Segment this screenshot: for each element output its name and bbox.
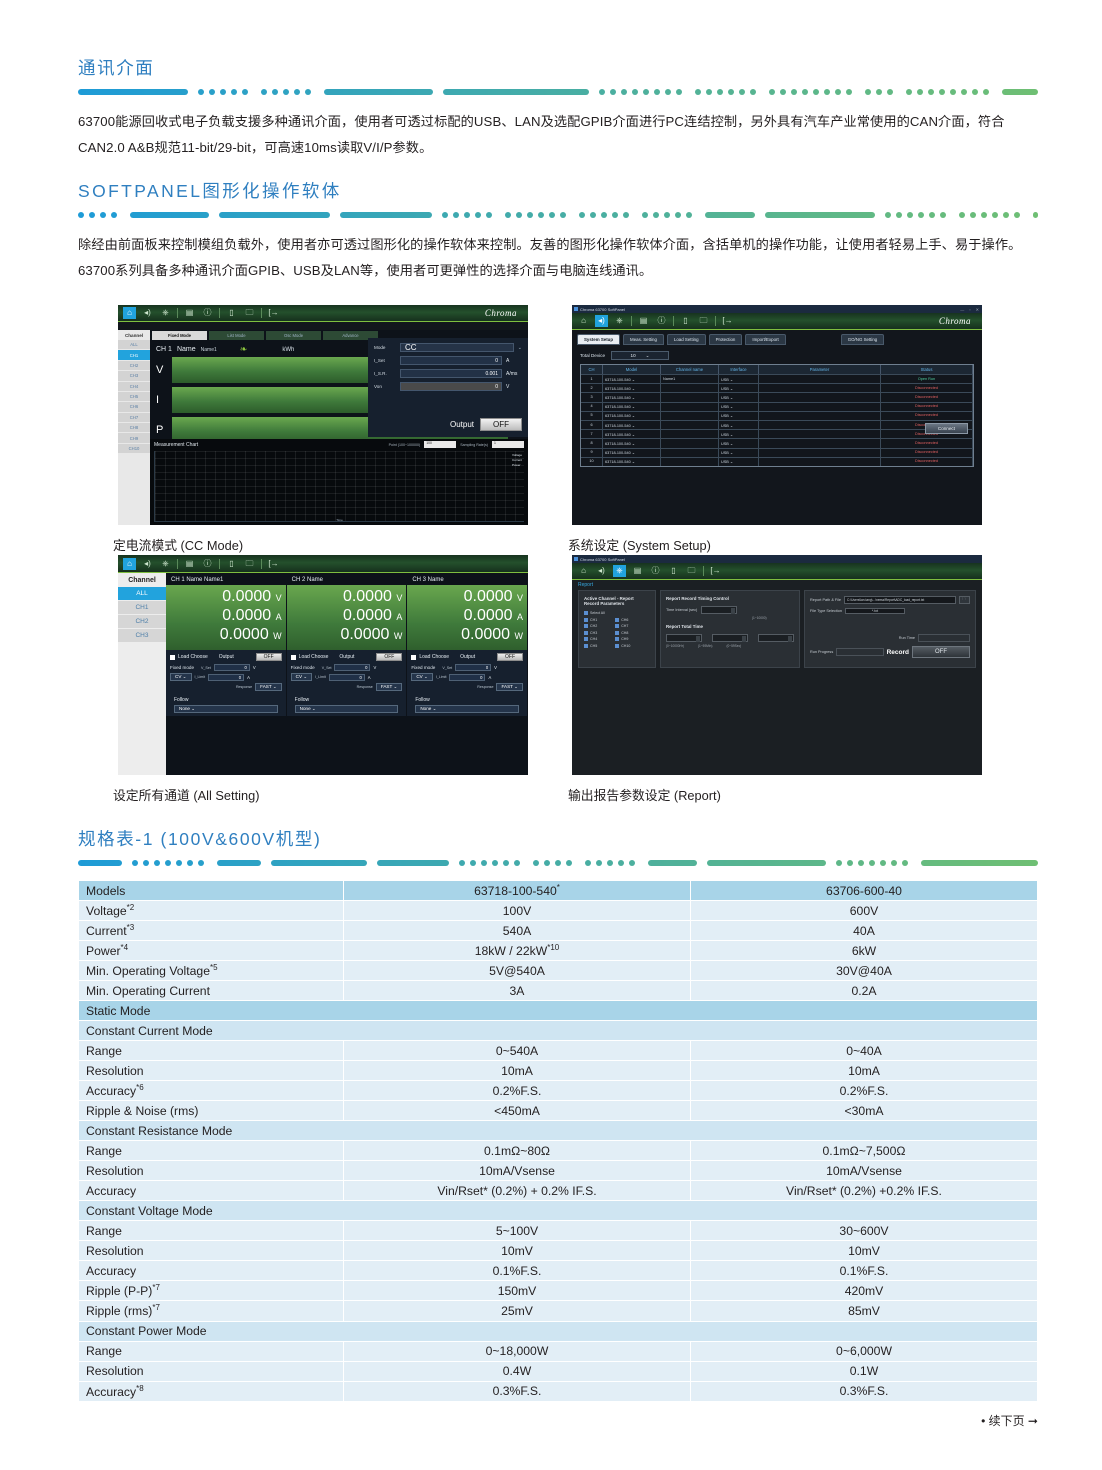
as-channel-title: CH 3 Name <box>407 573 527 585</box>
spec-group-label: Constant Resistance Mode <box>79 1121 1038 1141</box>
rp-channel-label: CH9 <box>621 637 628 641</box>
load-choose-label: Load Choose <box>178 654 208 660</box>
rp-time-interval-label: Time Interval (sec) <box>666 608 697 612</box>
rp-channel-checkbox[interactable]: CH10 <box>615 644 630 648</box>
cc-chart-xlabel: Time <box>336 518 343 522</box>
report-icon[interactable]: ▤ <box>183 558 196 570</box>
cc-sidebar-item-ch7[interactable]: CH7 <box>118 413 150 422</box>
ss-total-device-row: Total Device 10 ⌄ <box>572 345 982 364</box>
rp-time-interval-spinner[interactable] <box>701 606 737 614</box>
spec-value-model-1: 0.3%F.S. <box>344 1381 691 1401</box>
as-response-select[interactable]: FAST ⌄ <box>376 683 403 691</box>
spec-footnote-marker: *2 <box>127 903 135 912</box>
spec-value-model-2: 10mV <box>691 1241 1038 1261</box>
cc-field-isr-input[interactable]: 0.001 <box>400 369 502 378</box>
load-choose-label: Load Choose <box>419 654 449 660</box>
tab-gong-setting[interactable]: GO/NG Setting <box>841 334 885 345</box>
ss-cell-interface[interactable]: USB ⌄ <box>719 384 759 392</box>
rp-total-minutes-spinner[interactable] <box>712 634 748 642</box>
as-response-select[interactable]: FAST ⌄ <box>255 683 282 691</box>
as-vset-input[interactable]: 0 <box>455 664 491 671</box>
ss-cell-name[interactable]: Name1 <box>661 375 719 383</box>
table-row: Accuracy*60.2%F.S.0.2%F.S. <box>79 1081 1038 1101</box>
as-mode-select[interactable]: CV ⌄ <box>170 673 192 681</box>
divider <box>261 559 262 569</box>
cc-chart-rate-label: Sampling Rate(s) <box>460 443 488 447</box>
as-output-toggle[interactable]: OFF <box>497 653 523 661</box>
ss-table-row[interactable]: 1063718-100-540 ⌄USB ⌄Disconnected <box>581 457 973 466</box>
cc-sidebar-item-ch3[interactable]: CH3 <box>118 371 150 380</box>
ss-window-title: Chroma 63700 SoftPanel <box>580 307 625 312</box>
ss-cell-name[interactable] <box>661 449 719 457</box>
minimize-icon[interactable]: — <box>960 307 964 312</box>
spec-value-model-1: 3A <box>344 981 691 1001</box>
ss-cell-interface[interactable]: USB ⌄ <box>719 458 759 466</box>
rp-channel-list-left: CH1CH2CH3CH4CH5 <box>584 618 597 651</box>
spec-value-model-1: 10mA/Vsense <box>344 1161 691 1181</box>
as-channel-title: CH 1 Name Name1 <box>166 573 286 585</box>
ss-cell-parameter[interactable] <box>759 449 881 457</box>
as-ilimit-input[interactable]: 0 <box>329 674 365 681</box>
ss-cell-interface[interactable]: USB ⌄ <box>719 375 759 383</box>
as-ilimit-unit: A <box>368 675 371 680</box>
as-sidebar-item-ch2[interactable]: CH2 <box>118 615 166 628</box>
browse-folder-icon[interactable]: 🗀 <box>959 596 970 604</box>
ss-cell-name[interactable] <box>661 412 719 420</box>
as-vset-input[interactable]: 0 <box>214 664 250 671</box>
tab-system-setup[interactable]: System Setup <box>577 334 620 345</box>
ss-total-device-select[interactable]: 10 ⌄ <box>611 351 669 360</box>
ss-cell-parameter[interactable] <box>759 375 881 383</box>
network-icon[interactable]: ⎈ <box>613 565 626 577</box>
table-row: AccuracyVin/Rset* (0.2%) + 0.2% IF.S.Vin… <box>79 1181 1038 1201</box>
cc-sidebar-item-ch4[interactable]: CH4 <box>118 382 150 391</box>
folder-icon[interactable]: 🗀 <box>243 558 256 570</box>
network-icon[interactable]: ⎈ <box>159 307 172 319</box>
save-icon[interactable]: ▯ <box>667 565 680 577</box>
ss-cell-model[interactable]: 63718-100-540 ⌄ <box>603 403 661 411</box>
spec-footnote-marker: *8 <box>136 1384 144 1393</box>
cc-channel-label: CH 1 <box>156 346 172 353</box>
caption-all-setting: 设定所有通道 (All Setting) <box>113 785 558 804</box>
ss-cell-parameter[interactable] <box>759 412 881 420</box>
info-icon[interactable]: ⓘ <box>201 307 214 319</box>
rp-channel-checkbox[interactable]: CH4 <box>584 637 597 641</box>
spec-footnote-marker: *4 <box>121 943 129 952</box>
as-channel-sidebar: Channel ALL CH1 CH2 CH3 <box>118 573 166 775</box>
load-choose-checkbox[interactable] <box>411 655 416 660</box>
spec-value-model-2: 85mV <box>691 1301 1038 1321</box>
ss-cell-name[interactable] <box>661 439 719 447</box>
legend-power: Power <box>512 463 521 467</box>
home-icon[interactable]: ⌂ <box>123 558 136 570</box>
as-response-select[interactable]: FAST ⌄ <box>496 683 523 691</box>
spec-value-model-1: 540A <box>344 921 691 941</box>
table-row: Range0~540A0~40A <box>79 1041 1038 1061</box>
rp-channel-checkbox[interactable]: CH1 <box>584 618 597 622</box>
folder-icon[interactable]: 🗀 <box>685 565 698 577</box>
info-icon[interactable]: ⓘ <box>649 565 662 577</box>
ss-cell-parameter[interactable] <box>759 421 881 429</box>
as-fixed-mode-label: Fixed mode <box>411 665 435 670</box>
table-row: Range5~100V30~600V <box>79 1221 1038 1241</box>
as-channel-column: CH 1 Name Name10.0000 V0.0000 A0.0000 WL… <box>166 573 287 775</box>
ss-col-status: Status <box>881 365 973 374</box>
section-title-communication: 通讯介面 <box>78 55 1038 80</box>
tab-osc-mode[interactable]: Osc Mode <box>266 331 321 340</box>
ss-cell-model[interactable]: 63718-100-540 ⌄ <box>603 421 661 429</box>
cc-meter-v-label: V <box>156 364 172 376</box>
screenshot-gallery-row-1: ⌂ ◂) ⎈ ▤ ⓘ ▯ 🗀 [→ Chroma <box>78 305 1038 554</box>
ss-cell-status: Disconnected <box>881 412 973 420</box>
as-readout-w: 0.0000 W <box>291 626 403 645</box>
speaker-icon[interactable]: ◂) <box>141 307 154 319</box>
chevron-down-icon[interactable]: ⌄ <box>518 345 522 351</box>
tab-protection[interactable]: Protection <box>709 334 743 345</box>
cc-chart-point-input[interactable]: 100 <box>424 441 456 448</box>
cc-output-toggle[interactable]: OFF <box>480 418 522 431</box>
cc-sidebar-item-ch10[interactable]: CH10 <box>118 444 150 453</box>
spec-value-model-1: 100V <box>344 901 691 921</box>
as-follow-select[interactable]: None ⌄ <box>174 705 278 713</box>
ss-cell-interface[interactable]: USB ⌄ <box>719 430 759 438</box>
spec-footnote-marker: * <box>557 883 560 892</box>
ss-cell-model[interactable]: 63718-100-540 ⌄ <box>603 375 661 383</box>
ss-table-row[interactable]: 663718-100-540 ⌄USB ⌄Disconnected <box>581 420 973 429</box>
ss-cell-model[interactable]: 63718-100-540 ⌄ <box>603 439 661 447</box>
divider <box>673 316 674 326</box>
spec-row-label: Voltage*2 <box>79 901 344 921</box>
table-row: Resolution10mV10mV <box>79 1241 1038 1261</box>
as-response-label: Response <box>477 685 493 689</box>
rp-total-hours-spinner[interactable] <box>666 634 702 642</box>
decorative-rule <box>78 89 1038 96</box>
as-vset-label: V_Set <box>322 666 332 670</box>
section-title-spec: 规格表-1 (100V&600V机型) <box>78 826 1038 851</box>
table-row: Constant Voltage Mode <box>79 1201 1038 1221</box>
spec-value-model-1: 25mV <box>344 1301 691 1321</box>
rp-range-hours: (0~10000Hr) <box>666 644 684 648</box>
spec-value-model-2: 420mV <box>691 1281 1038 1301</box>
checkbox-icon <box>584 618 588 622</box>
rp-select-all-label: Select All <box>590 611 605 615</box>
as-ilimit-input[interactable]: 0 <box>449 674 485 681</box>
report-icon[interactable]: ▤ <box>631 565 644 577</box>
speaker-icon[interactable]: ◂) <box>595 315 608 327</box>
speaker-icon[interactable]: ◂) <box>595 565 608 577</box>
ss-cell-model[interactable]: 63718-100-540 ⌄ <box>603 393 661 401</box>
as-vset-input[interactable]: 0 <box>334 664 370 671</box>
cc-toolbar: ⌂ ◂) ⎈ ▤ ⓘ ▯ 🗀 [→ Chroma <box>118 305 528 322</box>
as-readout-v: 0.0000 V <box>291 588 403 607</box>
ss-cell-name[interactable] <box>661 384 719 392</box>
rp-run-progress-label: Run Progress <box>810 650 833 654</box>
ss-cell-ch: 3 <box>581 393 603 401</box>
ss-cell-interface[interactable]: USB ⌄ <box>719 449 759 457</box>
cc-field-iset-input[interactable]: 0 <box>400 356 502 365</box>
cc-sidebar-item-ch2[interactable]: CH2 <box>118 361 150 370</box>
spec-value-model-1: 0.1mΩ~80Ω <box>344 1141 691 1161</box>
spec-value-model-1: 10mV <box>344 1241 691 1261</box>
ss-cell-name[interactable] <box>661 458 719 466</box>
rp-card2-title: Report Record Timing Control <box>666 596 794 601</box>
as-output-toggle[interactable]: OFF <box>256 653 282 661</box>
as-vset-label: V_Set <box>201 666 211 670</box>
spec-value-model-2: 0.1%F.S. <box>691 1261 1038 1281</box>
rp-window-title: Chroma 63700 SoftPanel <box>580 557 625 562</box>
cc-chart-legend: Voltage Current Power <box>512 453 522 468</box>
cc-field-mode-label: Mode <box>374 345 396 350</box>
ss-cell-status: Disconnected <box>881 439 973 447</box>
as-follow-select[interactable]: None ⌄ <box>415 705 519 713</box>
speaker-icon[interactable]: ◂) <box>141 558 154 570</box>
spec-value-model-2: 0.2%F.S. <box>691 1081 1038 1101</box>
as-ilimit-label: I_Limit <box>315 675 326 679</box>
screenshot-system-setup: Chroma 63700 SoftPanel — ▫ ✕ ⌂ ◂) ⎈ <box>558 305 1038 554</box>
home-icon[interactable]: ⌂ <box>577 565 590 577</box>
cc-sidebar-item-ch6[interactable]: CH6 <box>118 402 150 411</box>
rp-channel-checkbox[interactable]: CH8 <box>615 631 630 635</box>
ss-cell-parameter[interactable] <box>759 458 881 466</box>
tab-meas-setting[interactable]: Meas. Setting <box>623 334 664 345</box>
checkbox-icon <box>615 618 619 622</box>
tab-load-setting[interactable]: Load Setting <box>667 334 706 345</box>
section-spec-table: 规格表-1 (100V&600V机型) Models63718-100-540*… <box>78 826 1038 1402</box>
rp-channel-list-right: CH6CH7CH8CH9CH10 <box>615 618 630 651</box>
as-readout-w: 0.0000 W <box>411 626 523 645</box>
as-sidebar-item-ch3[interactable]: CH3 <box>118 629 166 642</box>
cc-name-label: Name <box>177 346 196 353</box>
ss-cell-name[interactable] <box>661 393 719 401</box>
as-follow-select[interactable]: None ⌄ <box>295 705 399 713</box>
as-readout-v: 0.0000 V <box>170 588 282 607</box>
load-choose-label: Load Choose <box>299 654 329 660</box>
as-sidebar-item-all[interactable]: ALL <box>118 587 166 600</box>
rp-page-label: Report <box>572 580 982 590</box>
home-icon[interactable]: ⌂ <box>123 307 136 319</box>
spec-footnote-marker: *3 <box>127 923 135 932</box>
spec-row-label: Range <box>79 1041 344 1061</box>
ss-table-row[interactable]: 963718-100-540 ⌄USB ⌄Disconnected <box>581 448 973 457</box>
close-icon[interactable]: ✕ <box>976 307 979 312</box>
ss-table-row[interactable]: 263718-100-540 ⌄USB ⌄Disconnected <box>581 383 973 392</box>
ss-cell-status: Open Run <box>881 375 973 383</box>
spec-value-model-2: 0~40A <box>691 1041 1038 1061</box>
legend-current: Current <box>512 458 522 462</box>
spec-value-model-2: 0.2A <box>691 981 1038 1001</box>
as-channel-column: CH 2 Name0.0000 V0.0000 A0.0000 WLoad Ch… <box>287 573 408 775</box>
cc-sidebar-item-all[interactable]: ALL <box>118 340 150 349</box>
divider <box>715 316 716 326</box>
spec-group-label: Constant Power Mode <box>79 1321 1038 1341</box>
exit-icon[interactable]: [→ <box>709 565 722 577</box>
as-channel-readouts: 0.0000 V0.0000 A0.0000 W <box>407 585 527 650</box>
rp-channel-label: CH6 <box>621 618 628 622</box>
rp-file-type-select[interactable]: *.txt <box>845 608 905 614</box>
spec-value-model-1: 0.2%F.S. <box>344 1081 691 1101</box>
ss-table-row[interactable]: 363718-100-540 ⌄USB ⌄Disconnected <box>581 392 973 401</box>
spec-row-label: Resolution <box>79 1241 344 1261</box>
cc-sidebar-item-ch9[interactable]: CH9 <box>118 433 150 442</box>
ss-cell-parameter[interactable] <box>759 403 881 411</box>
report-icon[interactable]: ▤ <box>183 307 196 319</box>
ss-cell-name[interactable] <box>661 421 719 429</box>
ss-cell-interface[interactable]: USB ⌄ <box>719 393 759 401</box>
ss-cell-model[interactable]: 63718-100-540 ⌄ <box>603 430 661 438</box>
as-mode-select[interactable]: CV ⌄ <box>411 673 433 681</box>
ss-table-row[interactable]: 763718-100-540 ⌄USB ⌄Disconnected <box>581 429 973 438</box>
network-icon[interactable]: ⎈ <box>613 315 626 327</box>
spec-value-model-1: 5V@540A <box>344 961 691 981</box>
ss-table-row[interactable]: 163718-100-540 ⌄Name1USB ⌄Open Run <box>581 374 973 383</box>
folder-icon[interactable]: 🗀 <box>697 315 710 327</box>
table-row: Power*418kW / 22kW*106kW <box>79 941 1038 961</box>
as-ilimit-label: I_Limit <box>436 675 447 679</box>
ss-cell-ch: 6 <box>581 421 603 429</box>
ss-tab-bar: System Setup Meas. Setting Load Setting … <box>572 330 982 345</box>
folder-icon[interactable]: 🗀 <box>243 307 256 319</box>
cc-sidebar-item-ch5[interactable]: CH5 <box>118 392 150 401</box>
spec-row-label: Range <box>79 1341 344 1361</box>
spec-value-model-2: 600V <box>691 901 1038 921</box>
rp-channel-checkbox[interactable]: CH7 <box>615 624 630 628</box>
rp-channel-checkbox[interactable]: CH6 <box>615 618 630 622</box>
exit-icon[interactable]: [→ <box>267 558 280 570</box>
as-ilimit-input[interactable]: 0 <box>208 674 244 681</box>
rp-channel-checkbox[interactable]: CH5 <box>584 644 597 648</box>
cc-field-von-unit: V <box>506 384 522 390</box>
ss-cell-parameter[interactable] <box>759 439 881 447</box>
paragraph-communication: 63700能源回收式电子负载支援多种通讯介面，使用者可透过标配的USB、LAN及… <box>78 109 1038 161</box>
as-output-label: Output <box>460 654 475 660</box>
ss-table-row[interactable]: 863718-100-540 ⌄USB ⌄Disconnected <box>581 438 973 447</box>
save-icon[interactable]: ▯ <box>679 315 692 327</box>
cc-field-von-input[interactable]: 0 <box>400 382 502 391</box>
ss-cell-name[interactable] <box>661 403 719 411</box>
load-choose-checkbox[interactable] <box>170 655 175 660</box>
ss-cell-ch: 8 <box>581 439 603 447</box>
cc-field-von: Von 0 V <box>374 382 522 391</box>
rp-path-input[interactable]: C:\Users\lan.tang\...\nema\Report\ADC_lo… <box>844 596 956 604</box>
divider <box>177 559 178 569</box>
ss-cell-status: Disconnected <box>881 384 973 392</box>
rp-select-all[interactable]: Select All <box>584 611 650 615</box>
home-icon[interactable]: ⌂ <box>577 315 590 327</box>
rp-channel-checkbox[interactable]: CH9 <box>615 637 630 641</box>
table-row: Resolution10mA10mA <box>79 1061 1038 1081</box>
ss-cell-interface[interactable]: USB ⌄ <box>719 421 759 429</box>
table-row: Range0~18,000W0~6,000W <box>79 1341 1038 1361</box>
rp-path-label: Report Path & File <box>810 598 841 602</box>
ss-cell-interface[interactable]: USB ⌄ <box>719 403 759 411</box>
ss-toolbar: ⌂ ◂) ⎈ ▤ ⓘ ▯ 🗀 [→ Chroma <box>572 313 982 330</box>
all-setting-window: ⌂ ◂) ⎈ ▤ ⓘ ▯ 🗀 [→ <box>118 555 528 775</box>
ss-table-row[interactable]: 563718-100-540 ⌄USB ⌄Disconnected <box>581 411 973 420</box>
cc-sidebar-item-ch8[interactable]: CH8 <box>118 423 150 432</box>
ss-cell-parameter[interactable] <box>759 393 881 401</box>
screenshot-all-setting: ⌂ ◂) ⎈ ▤ ⓘ ▯ 🗀 [→ <box>78 555 558 804</box>
ss-table-row[interactable]: 463718-100-540 ⌄USB ⌄Disconnected <box>581 402 973 411</box>
as-output-toggle[interactable]: OFF <box>376 653 402 661</box>
ss-cell-model[interactable]: 63718-100-540 ⌄ <box>603 449 661 457</box>
rp-channel-checkbox[interactable]: CH2 <box>584 624 597 628</box>
info-icon[interactable]: ⓘ <box>201 558 214 570</box>
ss-cell-interface[interactable]: USB ⌄ <box>719 439 759 447</box>
ss-connect-button[interactable]: Connect <box>925 423 968 434</box>
exit-icon[interactable]: [→ <box>267 307 280 319</box>
ss-cell-model[interactable]: 63718-100-540 ⌄ <box>603 384 661 392</box>
rp-total-seconds-spinner[interactable] <box>758 634 794 642</box>
cc-field-isr-unit: A/ms <box>506 371 522 377</box>
tab-import-export[interactable]: Import/Export <box>745 334 785 345</box>
cc-field-mode-select[interactable]: CC <box>400 343 514 352</box>
tab-fixed-mode[interactable]: Fixed Mode <box>152 331 207 340</box>
as-sidebar-item-ch1[interactable]: CH1 <box>118 601 166 614</box>
ss-cell-model[interactable]: 63718-100-540 ⌄ <box>603 458 661 466</box>
caption-system-setup: 系统设定 (System Setup) <box>568 535 1038 554</box>
decorative-rule <box>78 212 1038 219</box>
cc-chart-plot-area: Voltage Current Power Time <box>154 451 524 522</box>
cc-settings-pane: Mode CC ⌄ I_Set 0 A <box>368 338 528 437</box>
save-icon[interactable]: ▯ <box>225 558 238 570</box>
ss-cell-model[interactable]: 63718-100-540 ⌄ <box>603 412 661 420</box>
rp-channel-checkbox[interactable]: CH3 <box>584 631 597 635</box>
info-icon[interactable]: ⓘ <box>655 315 668 327</box>
table-row: Ripple & Noise (rms)<450mA<30mA <box>79 1101 1038 1121</box>
section-communication: 通讯介面 63700能源回收式电子负载支援多种通讯介面，使用者可透过标配的USB… <box>78 55 1038 161</box>
ss-cell-parameter[interactable] <box>759 384 881 392</box>
exit-icon[interactable]: [→ <box>721 315 734 327</box>
spec-value-model-1: 0~18,000W <box>344 1341 691 1361</box>
spec-value-model-2: 0.1mΩ~7,500Ω <box>691 1141 1038 1161</box>
checkbox-icon <box>584 637 588 641</box>
spec-value-model-2: 10mA/Vsense <box>691 1161 1038 1181</box>
table-row: Min. Operating Current3A0.2A <box>79 981 1038 1001</box>
network-icon[interactable]: ⎈ <box>159 558 172 570</box>
maximize-icon[interactable]: ▫ <box>969 307 970 312</box>
as-mode-select[interactable]: CV ⌄ <box>291 673 313 681</box>
datasheet-page: 通讯介面 63700能源回收式电子负载支援多种通讯介面，使用者可透过标配的USB… <box>0 0 1102 1470</box>
table-row: Ripple (rms)*725mV85mV <box>79 1301 1038 1321</box>
rp-record-toggle[interactable]: OFF <box>912 646 970 658</box>
tab-list-mode[interactable]: List Mode <box>209 331 264 340</box>
cc-output-control: Output OFF <box>450 418 522 431</box>
rp-window-titlebar: Chroma 63700 SoftPanel <box>572 555 982 563</box>
report-icon[interactable]: ▤ <box>637 315 650 327</box>
screenshot-cc-mode: ⌂ ◂) ⎈ ▤ ⓘ ▯ 🗀 [→ Chroma <box>78 305 558 554</box>
ss-cell-name[interactable] <box>661 430 719 438</box>
load-choose-checkbox[interactable] <box>291 655 296 660</box>
cc-sidebar-item-ch1[interactable]: CH1 <box>118 350 150 359</box>
ss-cell-parameter[interactable] <box>759 430 881 438</box>
spec-row-label: Ripple (rms)*7 <box>79 1301 344 1321</box>
cc-chart-rate-input[interactable]: 1 <box>492 441 524 448</box>
spec-value-model-2: 0.3%F.S. <box>691 1381 1038 1401</box>
spec-row-label: Ripple (P-P)*7 <box>79 1281 344 1301</box>
cc-output-label: Output <box>450 420 474 429</box>
table-row: Accuracy0.1%F.S.0.1%F.S. <box>79 1261 1038 1281</box>
save-icon[interactable]: ▯ <box>225 307 238 319</box>
spec-row-label: Resolution <box>79 1361 344 1381</box>
rp-path-card: Report Path & File C:\Users\lan.tang\...… <box>804 590 976 668</box>
ss-cell-interface[interactable]: USB ⌄ <box>719 412 759 420</box>
spec-row-label: Power*4 <box>79 941 344 961</box>
checkbox-icon <box>584 624 588 628</box>
as-toolbar: ⌂ ◂) ⎈ ▤ ⓘ ▯ 🗀 [→ <box>118 555 528 573</box>
rp-channel-label: CH10 <box>621 644 630 648</box>
legend-voltage: Voltage <box>512 453 522 457</box>
chroma-logo: Chroma <box>939 316 977 326</box>
